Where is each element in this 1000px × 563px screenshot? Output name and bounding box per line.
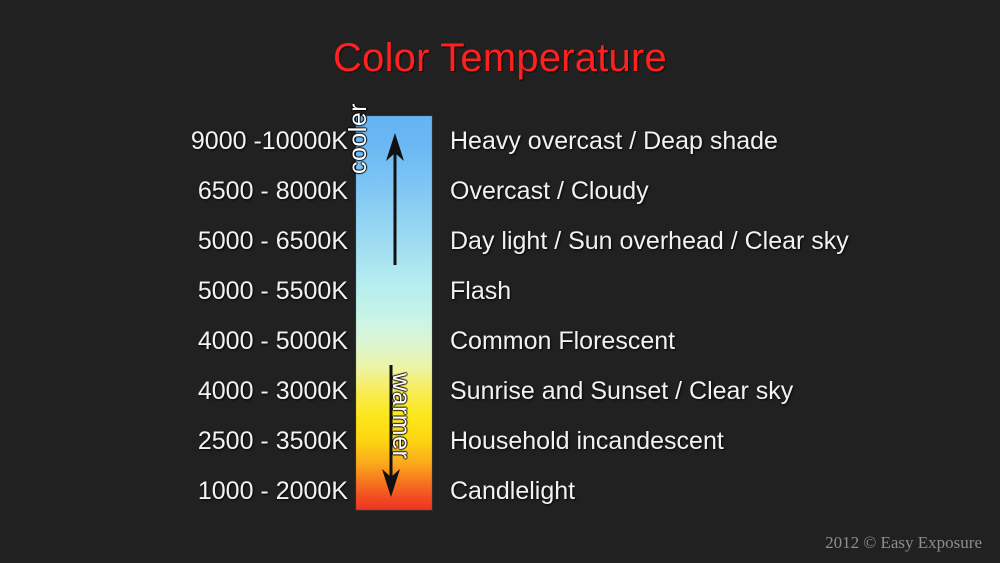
temperature-value: 4000 - 5000K — [60, 327, 348, 356]
temperature-value: 1000 - 2000K — [60, 477, 348, 506]
table-row: 4000 - 3000K Sunrise and Sunset / Clear … — [0, 366, 1000, 416]
light-source-description: Flash — [450, 277, 511, 306]
temperature-value: 2500 - 3500K — [60, 427, 348, 456]
page-title: Color Temperature — [0, 36, 1000, 81]
table-row: 5000 - 6500K Day light / Sun overhead / … — [0, 216, 1000, 266]
table-row: 4000 - 5000K Common Florescent — [0, 316, 1000, 366]
temperature-value: 6500 - 8000K — [60, 177, 348, 206]
table-row: 9000 -10000K Heavy overcast / Deap shade — [0, 116, 1000, 166]
light-source-description: Sunrise and Sunset / Clear sky — [450, 377, 793, 406]
table-row: 1000 - 2000K Candlelight — [0, 466, 1000, 516]
slide-canvas: Color Temperature cooler warmer 9000 -10… — [0, 0, 1000, 563]
temperature-value: 4000 - 3000K — [60, 377, 348, 406]
temperature-value: 9000 -10000K — [60, 127, 348, 156]
light-source-description: Day light / Sun overhead / Clear sky — [450, 227, 849, 256]
temperature-rows: 9000 -10000K Heavy overcast / Deap shade… — [0, 116, 1000, 510]
light-source-description: Household incandescent — [450, 427, 724, 456]
temperature-value: 5000 - 6500K — [60, 227, 348, 256]
light-source-description: Candlelight — [450, 477, 575, 506]
light-source-description: Common Florescent — [450, 327, 675, 356]
light-source-description: Overcast / Cloudy — [450, 177, 649, 206]
table-row: 2500 - 3500K Household incandescent — [0, 416, 1000, 466]
copyright-credit: 2012 © Easy Exposure — [825, 533, 982, 553]
table-row: 5000 - 5500K Flash — [0, 266, 1000, 316]
light-source-description: Heavy overcast / Deap shade — [450, 127, 778, 156]
table-row: 6500 - 8000K Overcast / Cloudy — [0, 166, 1000, 216]
temperature-value: 5000 - 5500K — [60, 277, 348, 306]
